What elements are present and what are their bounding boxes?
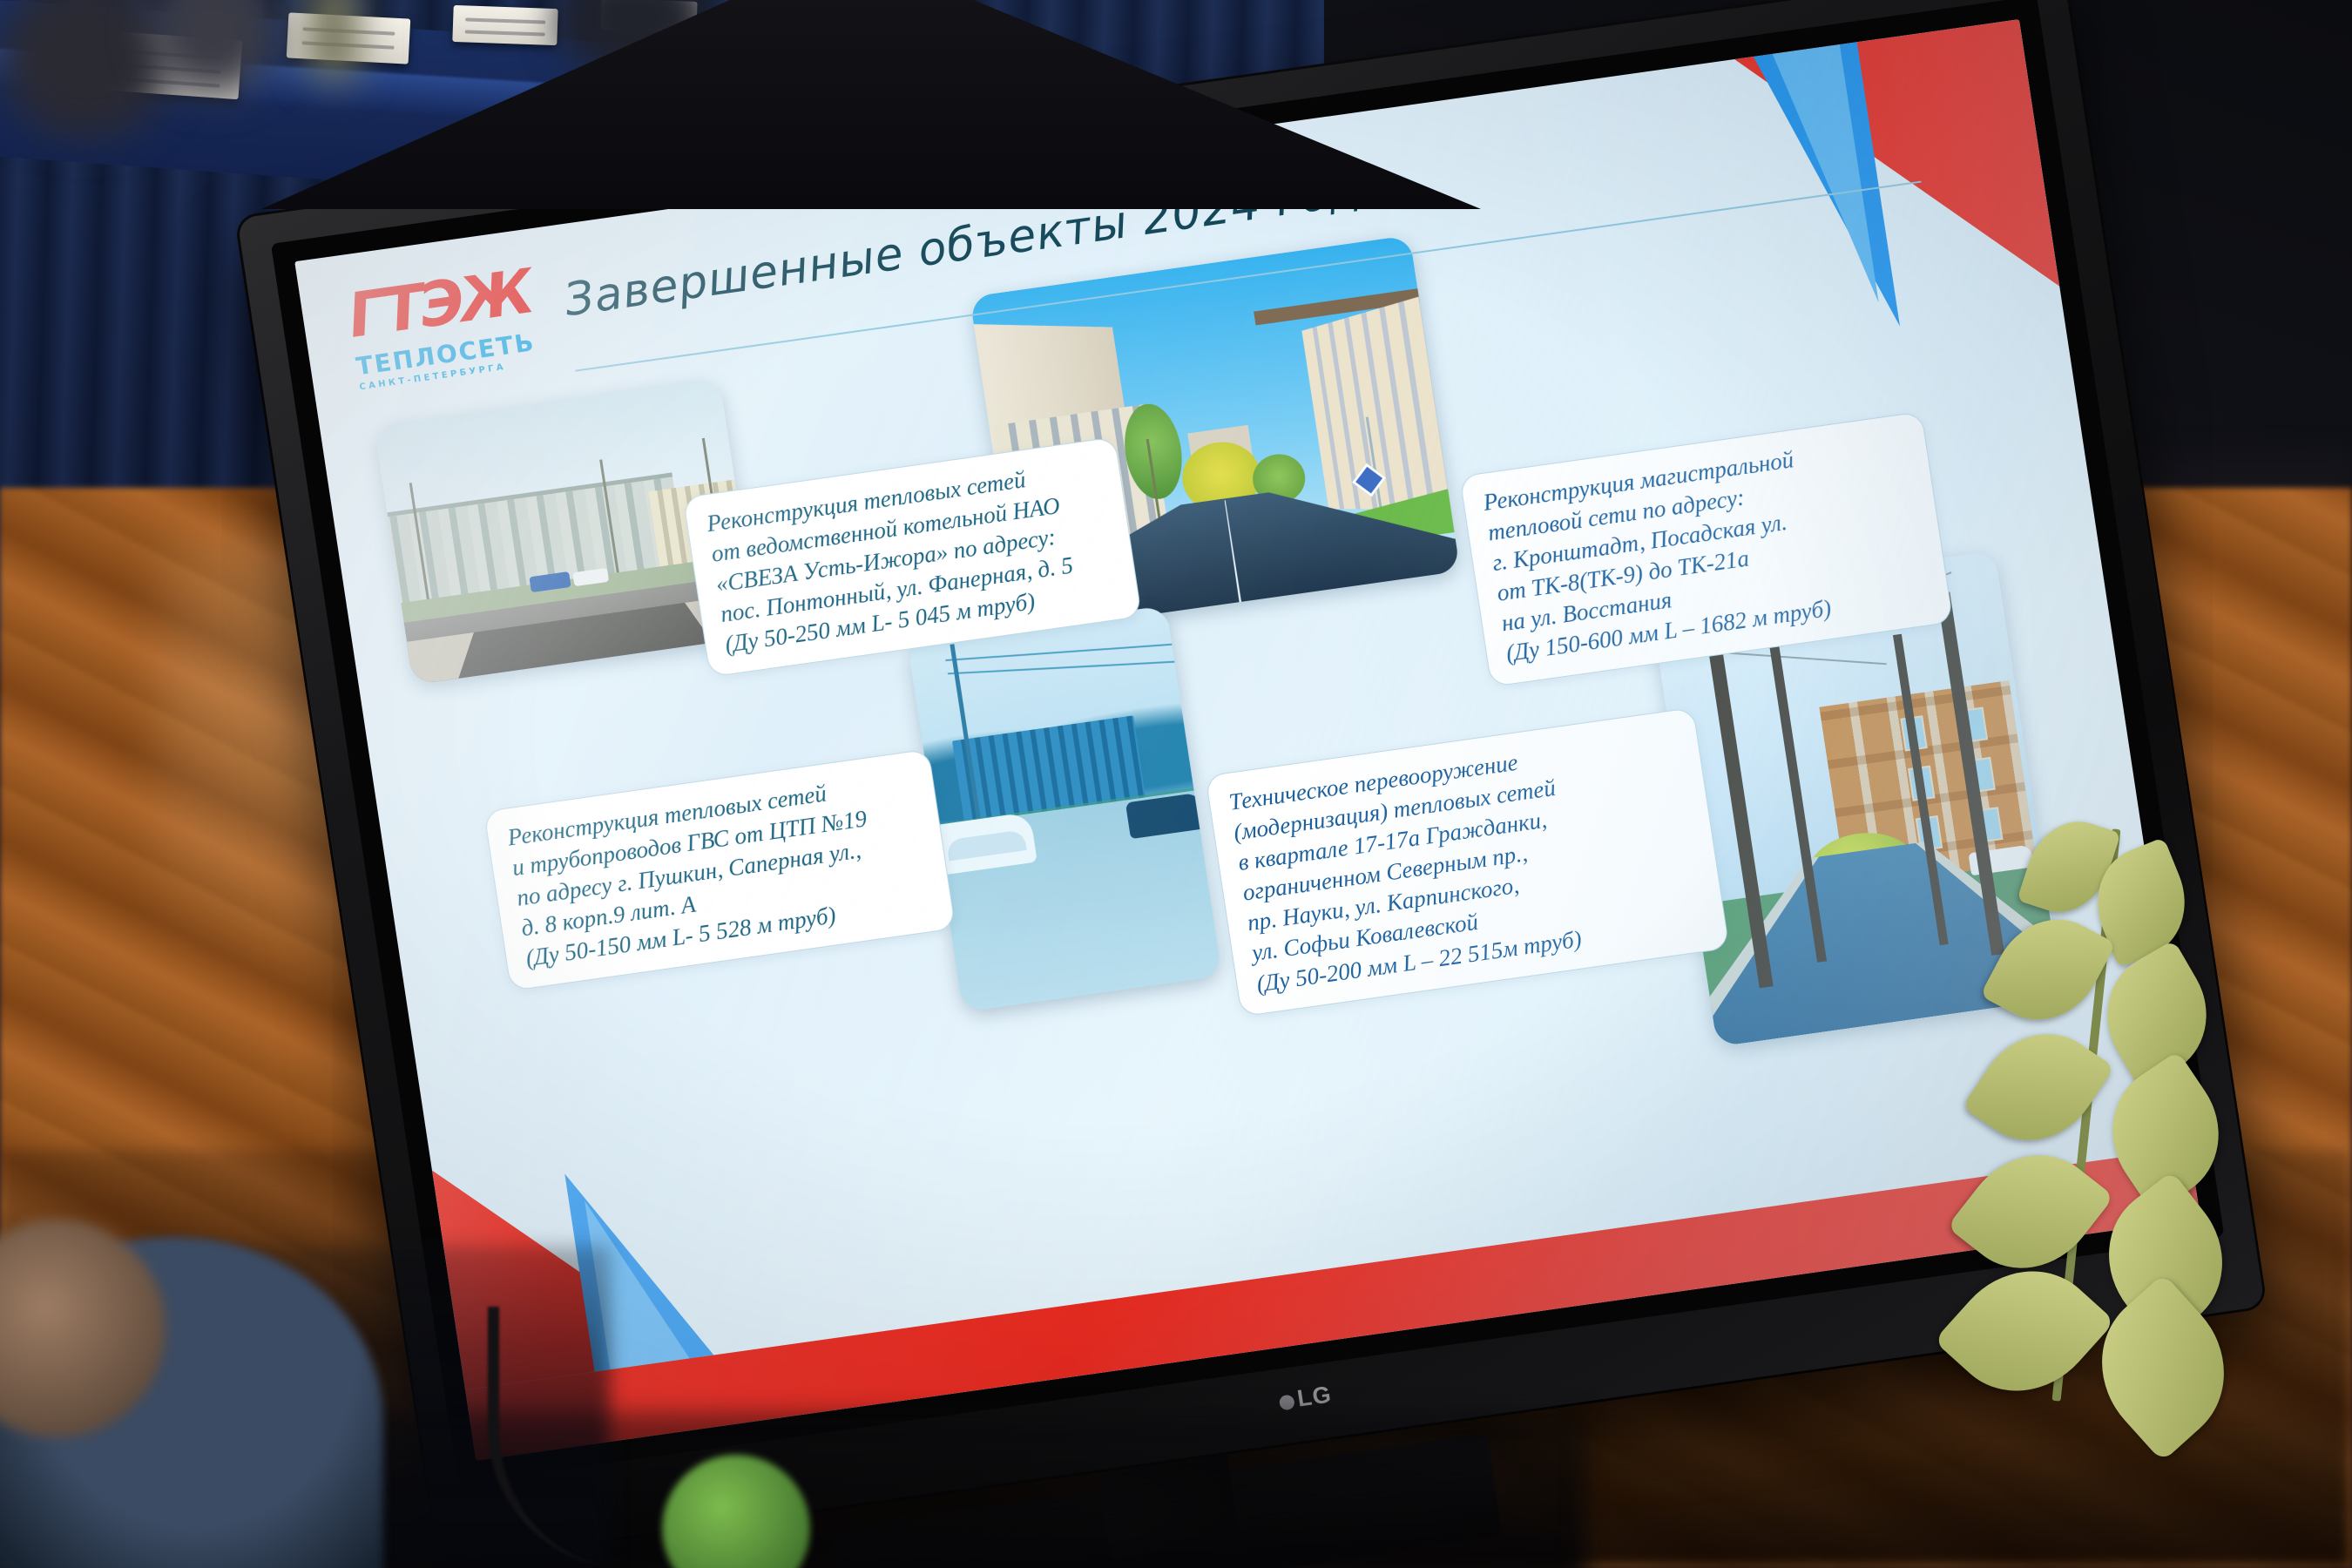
conference-room-scene: LG 8 ГТЭЖ ТЕПЛОСЕТЬ САНКТ-ПЕТЕРБУРГА — [0, 0, 2352, 1568]
foreground-plant — [1925, 810, 2300, 1437]
callout-pushkin-sapernaya: Реконструкция тепловых сетей и трубопров… — [483, 748, 956, 991]
presentation-slide: 8 ГТЭЖ ТЕПЛОСЕТЬ САНКТ-ПЕТЕРБУРГА Заверш… — [294, 19, 2200, 1461]
lg-brand-text: LG — [1295, 1381, 1334, 1411]
photo-pushkin-yard — [907, 605, 1221, 1012]
callout-grazhdanka-kvartal-17: Техническое перевооружение (модернизация… — [1205, 707, 1729, 1017]
company-logo: ГТЭЖ ТЕПЛОСЕТЬ САНКТ-ПЕТЕРБУРГА — [344, 262, 541, 391]
